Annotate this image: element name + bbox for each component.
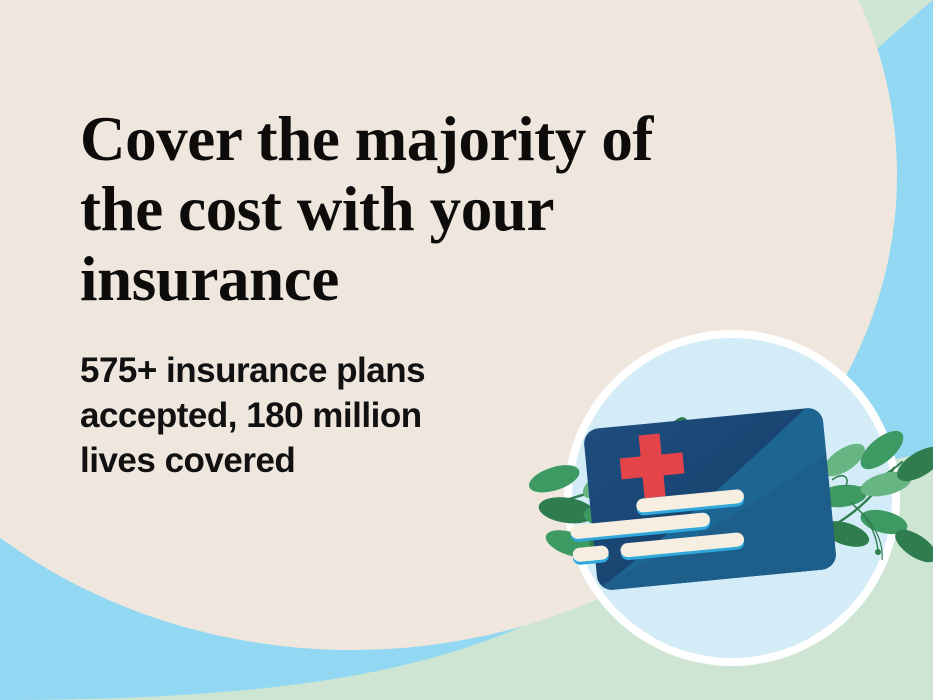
page-subtitle: 575+ insurance plans accepted, 180 milli… (80, 314, 510, 483)
insurance-card-illustration (520, 310, 933, 700)
slide-canvas: Cover the majority of the cost with your… (0, 0, 933, 700)
leaf-tendril-tip (875, 549, 881, 555)
illustration (520, 310, 933, 700)
page-title: Cover the majority of the cost with your… (80, 104, 720, 314)
